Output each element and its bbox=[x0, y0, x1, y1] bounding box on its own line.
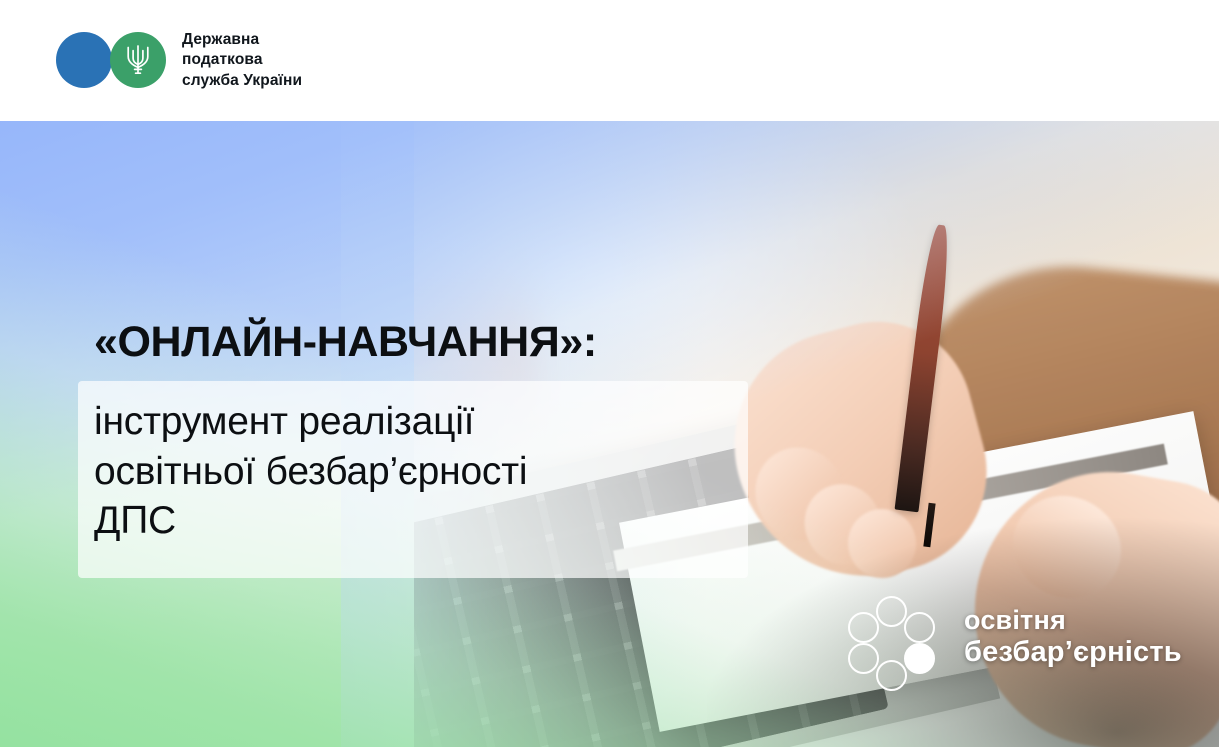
dps-brand-name: Державна податкова служба України bbox=[182, 30, 302, 92]
subtitle-line-3: ДПС bbox=[94, 496, 734, 546]
dot-lower-left bbox=[848, 643, 879, 674]
hexagon-dots-icon bbox=[848, 596, 946, 678]
dps-logo-mark bbox=[56, 32, 166, 88]
trident-emblem-icon bbox=[125, 43, 151, 77]
site-header: Державна податкова служба України bbox=[0, 0, 1219, 121]
brand-line-3: служба України bbox=[182, 71, 302, 92]
hero-subtitle-panel: інструмент реалізації освітньої безбар’є… bbox=[78, 381, 748, 578]
dot-upper-right bbox=[904, 612, 935, 643]
brand-line-2: податкова bbox=[182, 50, 302, 71]
hero-subtitle: інструмент реалізації освітньої безбар’є… bbox=[94, 397, 734, 546]
poster-canvas: Державна податкова служба України bbox=[0, 0, 1219, 747]
barrier-free-line-2: безбар’єрність bbox=[964, 636, 1182, 670]
barrier-free-wordmark: освітня безбар’єрність bbox=[964, 605, 1182, 670]
logo-circle-green-icon bbox=[110, 32, 166, 88]
dot-top bbox=[876, 596, 907, 627]
barrier-free-logo[interactable]: освітня безбар’єрність bbox=[848, 596, 1182, 678]
dot-bottom bbox=[876, 660, 907, 691]
dot-upper-left bbox=[848, 612, 879, 643]
brand-line-1: Державна bbox=[182, 30, 302, 51]
logo-circle-blue-icon bbox=[56, 32, 112, 88]
barrier-free-line-1: освітня bbox=[964, 605, 1182, 636]
subtitle-line-2: освітньої безбар’єрності bbox=[94, 447, 734, 497]
hero-headline: «ОНЛАЙН-НАВЧАННЯ»: bbox=[94, 318, 597, 367]
subtitle-line-1: інструмент реалізації bbox=[94, 397, 734, 447]
brand-lockup[interactable]: Державна податкова служба України bbox=[56, 30, 302, 92]
dot-lower-right bbox=[904, 643, 935, 674]
